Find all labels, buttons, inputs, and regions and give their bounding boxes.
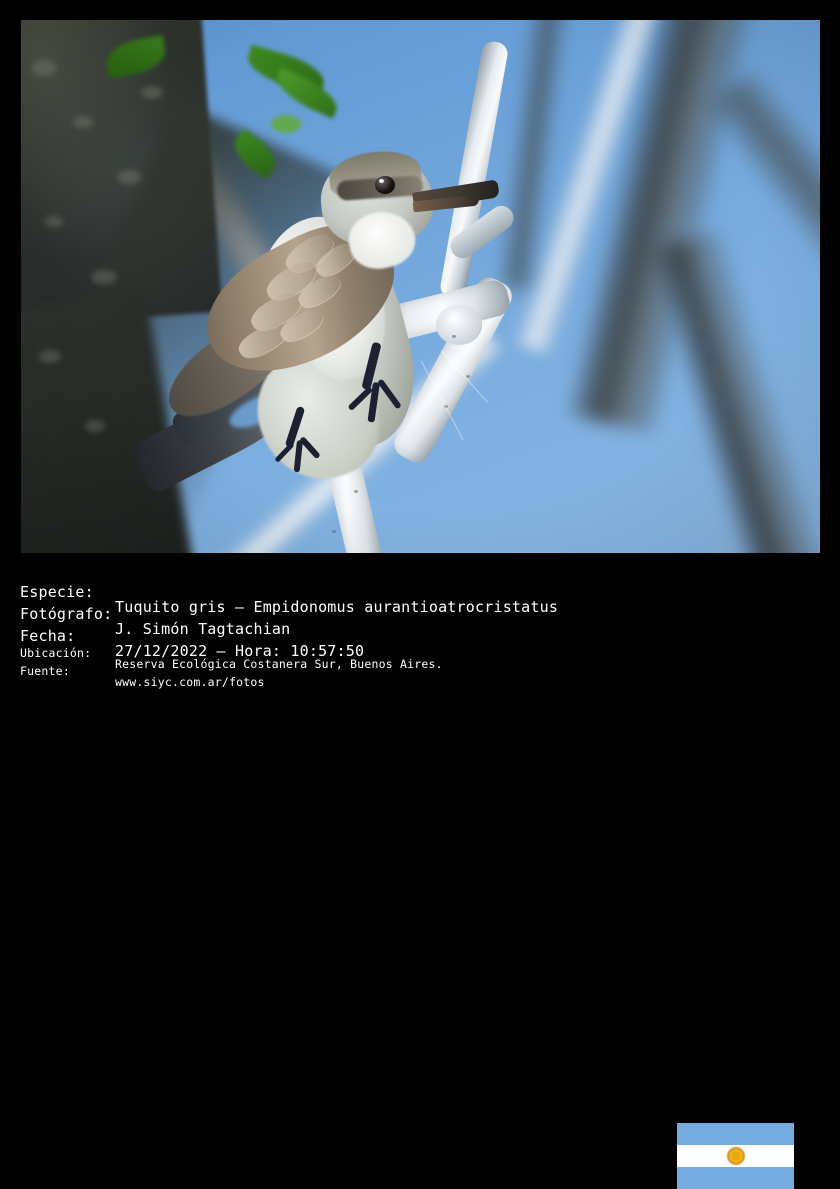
bark-mottle (31, 60, 57, 76)
label-fuente: Fuente: (20, 666, 70, 678)
bark-mottle (73, 116, 93, 128)
bark-mottle (91, 270, 117, 284)
flag-stripe-top (677, 1123, 794, 1145)
sun-face (732, 1152, 740, 1160)
bird-photograph (21, 20, 820, 553)
bark-mottle (45, 216, 63, 227)
bird-eye (375, 176, 395, 194)
flag-stripe-bottom (677, 1167, 794, 1189)
argentina-flag-icon (677, 1123, 794, 1189)
bark-mottle (85, 420, 105, 432)
branch-speck (332, 530, 336, 533)
value-ubicacion: Reserva Ecológica Costanera Sur, Buenos … (115, 659, 443, 671)
value-fuente: www.siyc.com.ar/fotos (115, 677, 265, 689)
sun-of-may-icon (727, 1147, 745, 1165)
bark-mottle (117, 170, 141, 184)
screenshot-root: Especie: Tuquito gris — Empidonomus aura… (0, 0, 840, 668)
caption-row-fuente: Fuente: www.siyc.com.ar/fotos (0, 654, 43, 700)
bird-subject (141, 120, 541, 520)
caption-bar: Especie: Tuquito gris — Empidonomus aura… (0, 553, 840, 668)
value-especie: Tuquito gris — Empidonomus aurantioatroc… (115, 600, 558, 615)
value-fotografo: J. Simón Tagtachian (115, 622, 290, 637)
bark-mottle (141, 86, 163, 99)
bark-mottle (39, 350, 61, 363)
bird-eye-glint (379, 179, 384, 183)
